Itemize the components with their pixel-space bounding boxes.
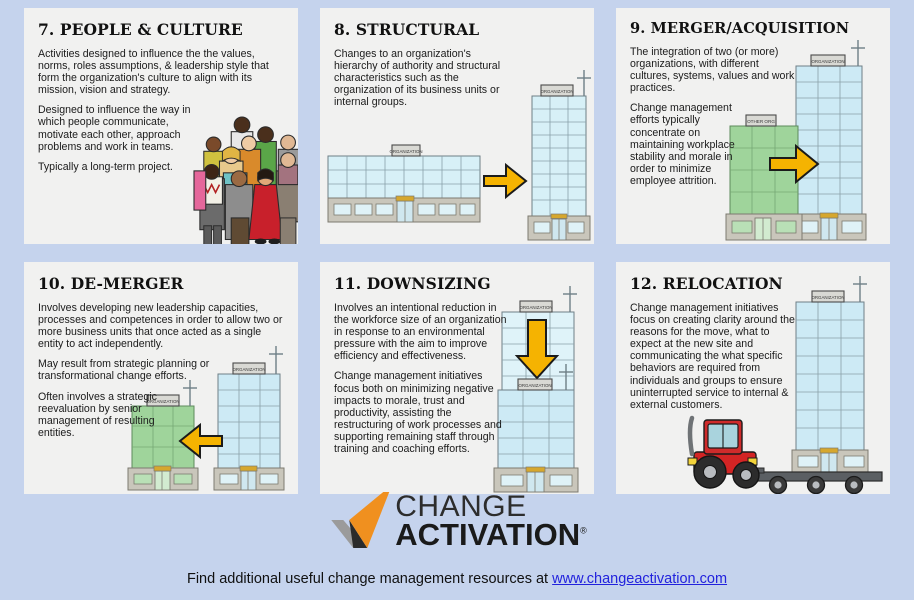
wide-building: ORGANIZATION bbox=[328, 145, 480, 222]
card-paragraph: Changes to an organization's hierarchy o… bbox=[334, 48, 510, 108]
svg-text:ORGANIZATION: ORGANIZATION bbox=[811, 59, 844, 64]
card-title: 10. DE-MERGER bbox=[38, 274, 284, 293]
card-paragraph: Designed to influence the way in which p… bbox=[38, 104, 206, 152]
structural-buildings-illustration: ORGANIZATION bbox=[320, 8, 594, 244]
card-title: 8. STRUCTURAL bbox=[334, 20, 580, 39]
card-relocation: 12. RELOCATION Change management initiat… bbox=[616, 262, 890, 494]
card-title: 11. DOWNSIZING bbox=[334, 274, 580, 293]
right-arrow bbox=[484, 165, 526, 197]
tall-building: ORGANIZATION bbox=[528, 70, 591, 240]
card-paragraph: Change management initiatives focus on c… bbox=[630, 302, 798, 411]
card-title: 12. RELOCATION bbox=[630, 274, 876, 293]
panel-grid: 7. PEOPLE & CULTURE Activities designed … bbox=[0, 0, 914, 494]
card-people-culture: 7. PEOPLE & CULTURE Activities designed … bbox=[24, 8, 298, 244]
card-paragraph: Change management initiatives focus both… bbox=[334, 370, 506, 455]
card-paragraph: Change management efforts typically conc… bbox=[630, 102, 744, 187]
svg-text:OTHER ORG: OTHER ORG bbox=[747, 119, 775, 124]
card-structural: 8. STRUCTURAL Changes to an organization… bbox=[320, 8, 594, 244]
card-paragraph: Often involves a strategic reevaluation … bbox=[38, 391, 163, 439]
left-arrow bbox=[180, 425, 222, 457]
change-activation-logo: CHANGE ACTIVATION® bbox=[327, 490, 586, 552]
svg-text:ORGANIZATION: ORGANIZATION bbox=[811, 295, 844, 300]
footer: CHANGE ACTIVATION® Find additional usefu… bbox=[0, 488, 914, 600]
card-paragraph: May result from strategic planning or tr… bbox=[38, 358, 238, 382]
website-link[interactable]: www.changeactivation.com bbox=[552, 571, 727, 587]
card-paragraph: Involves an intentional reduction in the… bbox=[334, 302, 508, 362]
svg-text:ORGANIZATION: ORGANIZATION bbox=[519, 305, 552, 310]
card-downsizing: 11. DOWNSIZING Involves an intentional r… bbox=[320, 262, 594, 494]
svg-text:ORGANIZATION: ORGANIZATION bbox=[389, 149, 422, 154]
card-title: 7. PEOPLE & CULTURE bbox=[38, 20, 284, 39]
card-paragraph: Typically a long-term project. bbox=[38, 161, 218, 173]
tall-building: ORGANIZATION bbox=[502, 286, 577, 390]
right-arrow bbox=[770, 146, 818, 182]
card-paragraph: The integration of two (or more) organiz… bbox=[630, 46, 798, 94]
card-title: 9. MERGER/ACQUISITION bbox=[630, 20, 876, 37]
building-on-trailer: ORGANIZATION bbox=[792, 276, 868, 474]
svg-text:ORGANIZATION: ORGANIZATION bbox=[540, 89, 573, 94]
red-tractor bbox=[688, 418, 759, 488]
card-paragraph: Involves developing new leadership capac… bbox=[38, 302, 283, 350]
down-arrow bbox=[517, 320, 557, 378]
card-merger-acquisition: 9. MERGER/ACQUISITION The integration of… bbox=[616, 8, 890, 244]
card-de-merger: 10. DE-MERGER Involves developing new le… bbox=[24, 262, 298, 494]
checkmark-logo-icon bbox=[327, 490, 393, 552]
short-building: ORGANIZATION bbox=[494, 364, 578, 492]
logo-wordmark: CHANGE ACTIVATION® bbox=[395, 493, 586, 549]
footer-tagline: Find additional useful change management… bbox=[0, 571, 914, 587]
tall-blue-building: ORGANIZATION bbox=[792, 40, 866, 240]
svg-text:ORGANIZATION: ORGANIZATION bbox=[518, 383, 551, 388]
footer-tagline-text: Find additional useful change management… bbox=[187, 571, 552, 587]
logo-bottom-text: ACTIVATION® bbox=[395, 521, 586, 550]
card-paragraph: Activities designed to influence the the… bbox=[38, 48, 281, 96]
registered-trademark: ® bbox=[580, 525, 587, 535]
